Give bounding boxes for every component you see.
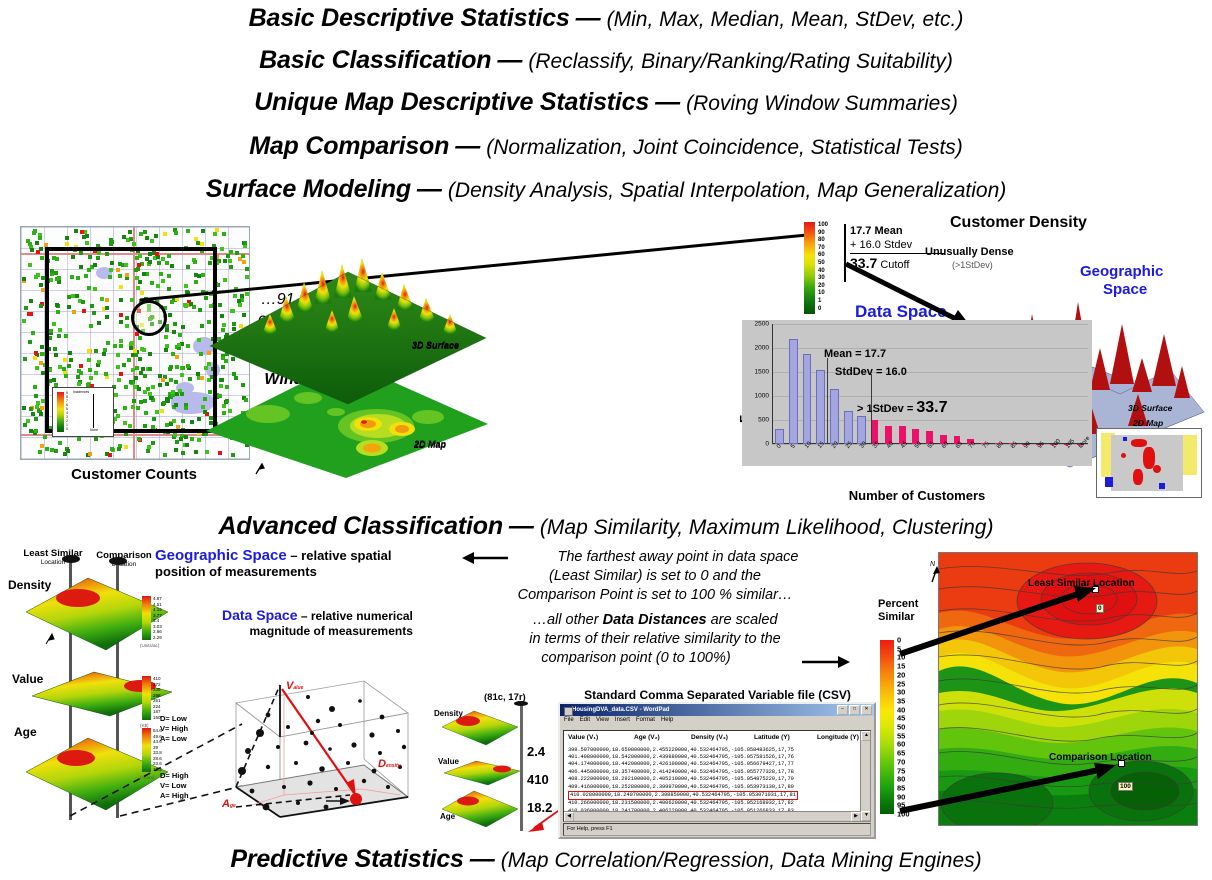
density-legend-tick: 90 — [818, 230, 825, 236]
data-space-cube: Value Density Age — [222, 655, 422, 825]
density-legend-tick: 10 — [818, 290, 825, 296]
legend-arrow — [93, 394, 94, 428]
customer-dot — [54, 449, 58, 453]
customer-dot — [36, 273, 40, 277]
stack-legend-tick: 4.51 — [153, 602, 162, 607]
customer-dot — [33, 385, 37, 389]
headline-5: Surface Modeling—(Density Analysis, Spat… — [0, 175, 1212, 204]
north-arrow-stack — [46, 634, 54, 644]
headline-2-dash: — — [491, 46, 528, 74]
csv-row: 408.222000000,18.292100000,2.405210000,4… — [568, 776, 870, 783]
customer-dot — [36, 250, 40, 254]
customer-dot — [94, 437, 98, 441]
csv-row: 410.266000000,18.231500000,2.400620000,4… — [568, 800, 870, 807]
status-bar: For Help, press F1 — [563, 823, 871, 836]
horizontal-scrollbar[interactable]: ◀ ▶ — [564, 811, 861, 821]
customer-dot — [77, 437, 81, 441]
customer-dot — [26, 419, 30, 423]
customer-dot — [38, 236, 42, 240]
close-button[interactable]: ✕ — [861, 705, 872, 715]
histogram-bar — [789, 339, 798, 444]
csv-column-header: Age (V₂) — [634, 734, 691, 745]
customer-dot — [39, 412, 43, 416]
csv-column-header: Value (V₁) — [568, 734, 634, 745]
histogram-plot-area: 0500100015002000250005101520253035404550… — [772, 324, 1088, 444]
vertical-scrollbar[interactable]: ▲ ▼ — [860, 731, 870, 821]
customer-dot — [29, 312, 33, 316]
headline-4-paren: (Normalization, Joint Coincidence, Stati… — [486, 136, 963, 159]
north-arrow-percent-similar: N — [924, 556, 948, 586]
stack-legend-tick: 4.87 — [153, 596, 162, 601]
mid-text-l3: Comparison Point is set to 100 % similar… — [455, 586, 855, 605]
histogram-y-tick: 0 — [765, 441, 769, 448]
histogram-y-axis — [772, 324, 773, 444]
stack-legend-tick: 410 — [153, 676, 161, 681]
customer-dot — [40, 352, 44, 356]
percent-similar-tick: 20 — [897, 670, 905, 679]
headline-2-bold: Basic Classification — [259, 46, 491, 74]
stack-legend-tick: 3.4 — [153, 618, 159, 623]
customer-dot — [36, 401, 40, 405]
stack-row-label-density: Density — [8, 578, 51, 592]
percent-similar-tick: 35 — [897, 696, 905, 705]
data-space-rest: – relative numerical — [297, 609, 412, 623]
customer-dot — [33, 356, 37, 360]
histogram-bar — [803, 354, 812, 444]
customer-dot — [110, 447, 114, 451]
customer-dot — [28, 340, 32, 344]
customer-dot — [163, 232, 167, 236]
customer-dot — [40, 256, 44, 260]
customer-dot — [88, 452, 92, 456]
histogram-y-tick: 2500 — [755, 321, 769, 328]
cutoff-mean: 17.7 Mean — [850, 224, 965, 238]
headline-3-dash: — — [649, 88, 686, 116]
stack-legend-ramp — [142, 596, 151, 640]
density-legend-tick: 60 — [818, 252, 825, 258]
needle-cap-comparison — [109, 557, 127, 565]
percent-similar-tick: 25 — [897, 679, 905, 688]
density-legend-tick: 100 — [818, 222, 828, 228]
density-legend-tick: 80 — [818, 237, 825, 243]
density-label-2d-map: 2D Map — [1133, 418, 1163, 428]
maximize-button[interactable]: □ — [849, 705, 860, 715]
wordpad-app-icon — [564, 707, 573, 716]
customer-dot — [22, 277, 26, 281]
percent-similar-tick: 15 — [897, 662, 905, 671]
stack-legend-tick: 372 — [153, 682, 161, 687]
density-2d-mini-map — [1096, 428, 1202, 498]
customer-dot — [29, 299, 33, 303]
customer-dot — [24, 306, 28, 310]
cube-axis-label-density: Density — [378, 758, 401, 770]
headline-3-bold: Unique Map Descriptive Statistics — [254, 88, 649, 116]
percent-similar-ramp — [880, 640, 894, 814]
label-2d-map-text: 2D Map — [414, 439, 446, 449]
density-legend-tick: 70 — [818, 245, 825, 251]
headline-5-paren: (Density Analysis, Spatial Interpolation… — [448, 179, 1006, 202]
csv-column-header: Density (V₃) — [691, 734, 754, 745]
customer-dot — [32, 231, 36, 235]
histogram-chart: 0500100015002000250005101520253035404550… — [742, 320, 1092, 466]
customer-dot — [30, 248, 34, 252]
customer-dot — [23, 423, 27, 427]
customer-dot — [163, 453, 167, 457]
histogram-gridline — [772, 348, 1088, 349]
geographic-space-line2: position of measurements — [155, 564, 392, 580]
menu-item-insert[interactable]: Insert — [615, 717, 630, 727]
customer-dot — [150, 239, 154, 243]
histogram-bar — [775, 429, 784, 444]
customer-dot — [124, 445, 128, 449]
density-legend-ramp — [804, 222, 815, 314]
mini-surface-age — [442, 791, 518, 827]
bottom-headline-paren: (Map Correlation/Regression, Data Mining… — [501, 849, 982, 872]
percent-similar-tick: 55 — [897, 731, 905, 740]
headline-1-paren: (Min, Max, Median, Mean, StDev, etc.) — [607, 8, 964, 31]
customer-dot — [139, 232, 143, 236]
csv-row: 398.507000000,18.650000000,2.455220000,4… — [568, 747, 870, 754]
customer-dot — [174, 448, 178, 452]
customer-dot — [151, 441, 155, 445]
histogram-gridline — [772, 324, 1088, 325]
headline-3-paren: (Roving Window Summaries) — [686, 92, 958, 115]
percent-similar-tick: 60 — [897, 740, 905, 749]
svg-text:N: N — [930, 561, 936, 568]
csv-row: 406.445000000,18.357400000,2.414240000,4… — [568, 769, 870, 776]
percent-similar-tick: 30 — [897, 688, 905, 697]
histogram-x-tick: More — [1078, 436, 1091, 450]
data-space-bold: Data Space — [222, 607, 297, 623]
mid-text-l4c: are scaled — [707, 612, 778, 628]
headline-4-dash: — — [449, 132, 486, 160]
mini-stack-label-value: Value — [438, 757, 459, 766]
customer-dot — [181, 451, 185, 455]
legend-to-comparison-arrow — [896, 755, 1124, 817]
menu-item-view[interactable]: View — [596, 717, 609, 727]
bottom-headline: Predictive Statistics—(Map Correlation/R… — [0, 845, 1212, 874]
headline-5-dash: — — [411, 175, 448, 203]
customer-dot — [128, 230, 132, 234]
csv-row: 404.174000000,18.442900000,2.426100000,4… — [568, 761, 870, 768]
customer-dot — [35, 366, 39, 370]
csv-section-title: Standard Comma Separated Variable file (… — [545, 688, 890, 702]
geographic-space-description: Geographic Space – relative spatial posi… — [155, 548, 392, 580]
stack-row-label-value: Value — [12, 672, 43, 686]
customer-dot — [31, 331, 35, 335]
menu-item-file[interactable]: File — [564, 717, 574, 727]
headline-1-dash: — — [570, 4, 607, 32]
headline-4: Map Comparison—(Normalization, Joint Coi… — [0, 132, 1212, 161]
percent-similar-tick: 45 — [897, 714, 905, 723]
csv-column-header: Latitude (Y) — [754, 734, 817, 745]
customer-dot — [63, 452, 67, 456]
window-titlebar: HousingDVA_data.CSV - WordPad – □ ✕ — [560, 704, 874, 716]
menu-item-format[interactable]: Format — [636, 717, 655, 727]
histogram-y-tick: 1000 — [755, 393, 769, 400]
mini-stack-label-age: Age — [440, 812, 455, 821]
stack-legend-tick: 3.77 — [153, 613, 162, 618]
headline-2-paren: (Reclassify, Binary/Ranking/Rating Suita… — [528, 50, 952, 73]
data-space-description: Data Space – relative numerical magnitud… — [222, 608, 413, 639]
density-legend-tick: 30 — [818, 275, 825, 281]
customer-density-title: Customer Density — [950, 214, 1087, 232]
legend-title: Incidences — [73, 390, 89, 394]
customer-dot — [137, 437, 141, 441]
customer-dot — [22, 319, 26, 323]
legend-none-label: None — [90, 428, 98, 432]
csv-row: 401.498000000,18.542000000,2.439880000,4… — [568, 754, 870, 761]
headline-3: Unique Map Descriptive Statistics—(Rovin… — [0, 88, 1212, 117]
annotation-1stdev-text: > 1StDev = — [857, 403, 913, 415]
headline-4-bold: Map Comparison — [249, 132, 449, 160]
stack-legend-tick: 3.03 — [153, 624, 162, 629]
customer-dot — [173, 433, 177, 437]
mid-text-l4a: …all other — [532, 612, 602, 628]
window-title: HousingDVA_data.CSV - WordPad — [562, 707, 837, 713]
window-menubar[interactable]: FileEditViewInsertFormatHelp — [560, 716, 874, 728]
histogram-bar — [830, 389, 839, 444]
stack-legend-unit: (Units/ac) — [140, 643, 159, 648]
customer-dot — [34, 417, 38, 421]
customer-map-legend: Incidences None 9876543210 — [52, 387, 114, 437]
customer-dot — [45, 447, 49, 451]
histogram-annotation-1stdev: > 1StDev = 33.7 — [857, 399, 947, 417]
density-legend-tick: 40 — [818, 268, 825, 274]
customer-dot — [143, 230, 147, 234]
cube-axis-label-age: Age — [222, 798, 236, 810]
histogram-x-axis-label: Number of Customers — [742, 488, 1092, 503]
bottom-headline-bold: Predictive Statistics — [230, 845, 463, 873]
customer-dot — [22, 406, 26, 410]
customer-dot — [74, 229, 78, 233]
customer-dot — [179, 437, 183, 441]
density-3d-surface-and-2d-map: 3D Surface 2D Map — [196, 226, 496, 481]
customer-dot — [145, 236, 149, 240]
histogram-bar — [816, 370, 825, 444]
customer-dot — [80, 230, 84, 234]
customer-dot — [40, 444, 44, 448]
csv-column-headers: Value (V₁)Age (V₂)Density (V₃)Latitude (… — [564, 731, 870, 747]
density-label-3d-surface: 3D Surface — [1128, 403, 1172, 413]
headline-1: Basic Descriptive Statistics—(Min, Max, … — [0, 4, 1212, 33]
customer-dot — [29, 407, 33, 411]
customer-dot — [39, 304, 43, 308]
density-legend-tick: 1 — [818, 298, 821, 304]
histogram-bar — [857, 416, 866, 444]
percent-similar-tick: 50 — [897, 723, 905, 732]
roving-window-circle — [131, 300, 167, 336]
mid-headline: Advanced Classification—(Map Similarity,… — [0, 512, 1212, 541]
mid-text-l1: The farthest away point in data space — [455, 548, 855, 567]
csv-text-area[interactable]: Value (V₁)Age (V₂)Density (V₃)Latitude (… — [563, 730, 871, 822]
mid-text-l5: in terms of their relative similarity to… — [455, 630, 855, 649]
bottom-headline-dash: — — [464, 845, 501, 873]
customer-dot — [38, 450, 42, 454]
window-buttons[interactable]: – □ ✕ — [837, 705, 872, 715]
customer-dot — [39, 361, 43, 365]
label-3d-surface-text: 3D Surface — [412, 340, 459, 350]
customer-dot — [66, 449, 70, 453]
density-legend-tick: 0 — [818, 306, 821, 312]
stack-legend-tick: 2.66 — [153, 629, 162, 634]
customer-dot — [122, 235, 126, 239]
histogram-y-tick: 2000 — [755, 345, 769, 352]
histogram-marker-line — [827, 358, 829, 444]
customer-dot — [186, 229, 190, 233]
histogram-y-tick: 500 — [758, 417, 769, 424]
histogram-y-tick: 1500 — [755, 369, 769, 376]
headline-1-bold: Basic Descriptive Statistics — [249, 4, 570, 32]
minimize-button[interactable]: – — [837, 705, 848, 715]
mid-text-l4b: Data Distances — [603, 612, 707, 628]
mid-headline-bold: Advanced Classification — [219, 512, 503, 540]
north-arrow-icon — [256, 464, 264, 474]
customer-dot — [129, 237, 133, 241]
customer-dot — [85, 241, 89, 245]
customer-dot — [65, 242, 69, 246]
stack-legend-tick: 4.14 — [153, 607, 162, 612]
wordpad-window: HousingDVA_data.CSV - WordPad – □ ✕ File… — [558, 702, 876, 839]
stack-legend-density: 4.874.514.143.773.43.032.662.29(Units/ac… — [142, 596, 151, 640]
customer-dot — [190, 437, 194, 441]
histogram-annotation-mean: Mean = 17.7 — [824, 348, 886, 360]
customer-dot — [35, 241, 39, 245]
mid-headline-dash: — — [503, 512, 540, 540]
menu-item-help[interactable]: Help — [661, 717, 673, 727]
unusually-dense-label: Unusually Dense — [925, 246, 1014, 258]
customer-dot — [132, 242, 136, 246]
mid-text-l6: comparison point (0 to 100%) — [455, 649, 855, 668]
customer-dot — [50, 448, 54, 452]
histogram-x-tick: 100 — [1051, 438, 1062, 450]
customer-dot — [110, 240, 114, 244]
customer-dot — [58, 441, 62, 445]
csv-row-highlighted: 410.028000000,18.240700000,2.398850000,4… — [568, 791, 798, 800]
geographic-space-bold: Geographic Space — [155, 547, 287, 564]
customer-dot — [34, 394, 38, 398]
customer-dot — [154, 234, 158, 238]
legend-tick: 0 — [66, 427, 68, 431]
stack-legend-tick: 2.29 — [153, 635, 162, 640]
customer-dot — [34, 429, 38, 433]
needle-cap-least-similar — [62, 555, 80, 563]
cube-axis-label-value: Value — [286, 680, 304, 692]
mini-stack-label-density: Density — [434, 709, 463, 718]
customer-dot — [185, 443, 189, 447]
legend-to-least-similar-arrow — [896, 578, 1104, 660]
stack-to-cube-connectors — [66, 690, 246, 820]
stack-row-label-age: Age — [14, 725, 37, 739]
customer-dot — [184, 435, 188, 439]
data-space-line2: magnitude of measurements — [222, 624, 413, 639]
csv-row: 409.416000000,18.252800000,2.399970000,4… — [568, 784, 870, 791]
right-arrow-icon — [800, 652, 854, 672]
customer-dot — [43, 435, 47, 439]
headline-2: Basic Classification—(Reclassify, Binary… — [0, 46, 1212, 75]
customer-dot — [31, 412, 35, 416]
menu-item-edit[interactable]: Edit — [580, 717, 590, 727]
customer-dot — [28, 242, 32, 246]
histogram-x-tick: 105 — [1065, 438, 1076, 450]
mid-headline-paren: (Map Similarity, Maximum Likelihood, Clu… — [540, 516, 994, 539]
density-legend-tick: 50 — [818, 260, 825, 266]
geographic-space-rest: – relative spatial — [287, 548, 392, 563]
csv-row: 410.028000000,18.240700000,2.398850000,4… — [568, 791, 870, 800]
customer-dot — [23, 357, 27, 361]
customer-dot — [146, 449, 150, 453]
histogram-annotation-stdev: StdDev = 16.0 — [835, 366, 907, 378]
customer-dot — [65, 236, 69, 240]
mid-text-l2: (Least Similar) is set to 0 and the — [455, 567, 855, 586]
similarity-explanation-text: The farthest away point in data space (L… — [455, 548, 855, 668]
percent-similar-tick: 40 — [897, 705, 905, 714]
customer-dot — [108, 453, 112, 457]
customer-dot — [28, 263, 32, 267]
customer-dot — [85, 234, 89, 238]
annotation-1stdev-value: 33.7 — [916, 399, 947, 416]
customer-dot — [35, 405, 39, 409]
density-legend-tick: 20 — [818, 283, 825, 289]
histogram-bar — [844, 411, 853, 444]
customer-dot — [39, 283, 43, 287]
legend-color-ramp — [57, 392, 64, 432]
customer-dot — [117, 447, 121, 451]
customer-dot — [40, 345, 44, 349]
customer-dot — [174, 231, 178, 235]
customer-dot — [40, 406, 44, 410]
headline-5-bold: Surface Modeling — [206, 175, 411, 203]
surface-3d-mesh — [210, 258, 486, 404]
